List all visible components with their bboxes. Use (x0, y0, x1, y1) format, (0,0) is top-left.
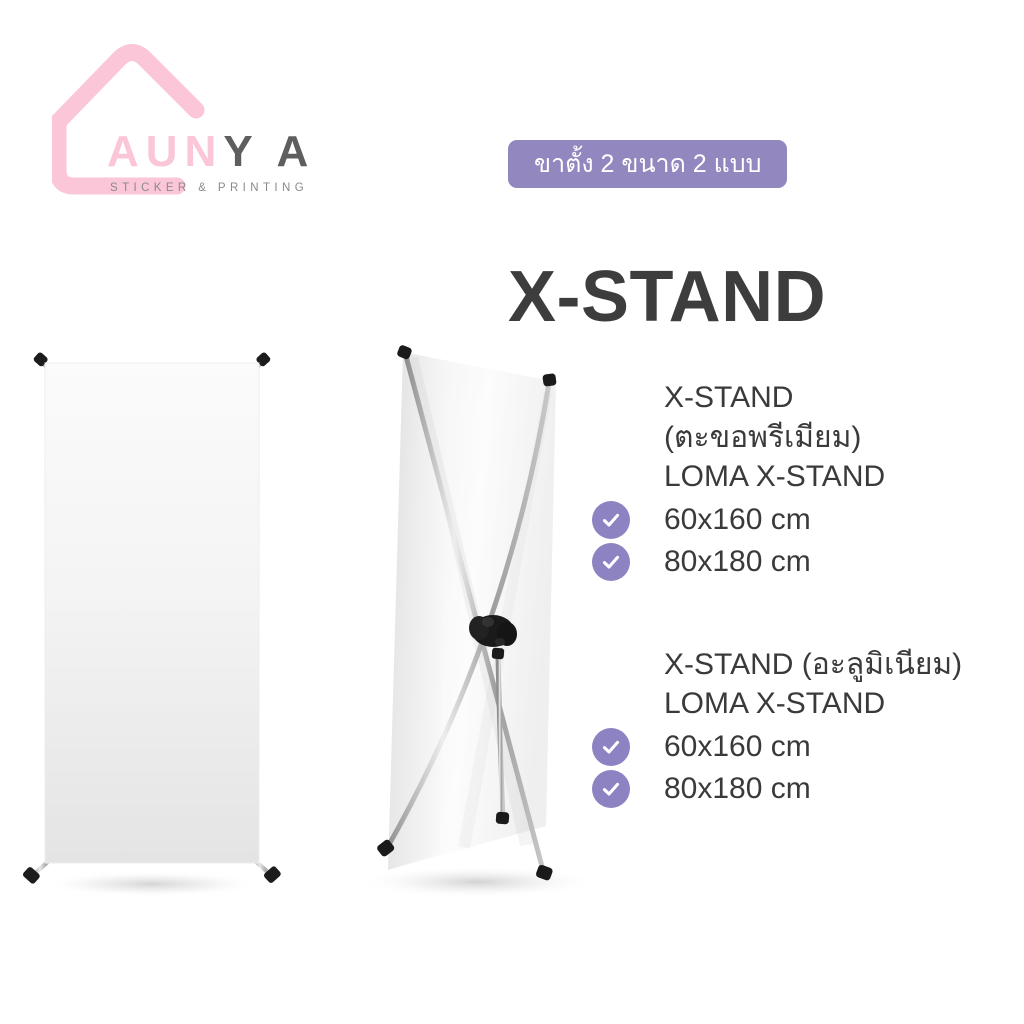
spec-size-label: 80x180 cm (664, 544, 811, 580)
wordmark-gray-letters: Y A (223, 127, 315, 176)
rod-tip-top-right (542, 373, 557, 387)
spec-size-item: 60x160 cm (592, 728, 1024, 766)
spec-size-item: 60x160 cm (592, 501, 1024, 539)
spec-size-label: 80x180 cm (664, 771, 811, 807)
spec-heading-line: LOMA X-STAND (664, 457, 1024, 497)
ground-shadow (42, 871, 262, 897)
page-title: X-STAND (508, 260, 826, 336)
spec-heading-line: (ตะขอพรีเมียม) (664, 418, 1024, 458)
specification-list: X-STAND (ตะขอพรีเมียม) LOMA X-STAND 60x1… (592, 378, 1024, 808)
spec-group-aluminium: X-STAND (อะลูมิเนียม) LOMA X-STAND 60x16… (592, 645, 1024, 808)
rod-tip-center-foot (496, 812, 510, 825)
brand-logo: AUNY A STICKER & PRINTING (52, 22, 342, 207)
rod-clip-center (492, 648, 505, 660)
x-stand-perspective-illustration (348, 326, 618, 936)
wordmark-pink-letters: AUN (107, 127, 223, 176)
x-stand-flat-illustration (0, 318, 320, 928)
ground-shadow (358, 866, 598, 898)
brand-wordmark: AUNY A (107, 130, 315, 174)
brand-tagline: STICKER & PRINTING (110, 182, 308, 194)
spec-group-premium-hook: X-STAND (ตะขอพรีเมียม) LOMA X-STAND 60x1… (592, 378, 1024, 581)
house-outline-icon (52, 22, 342, 207)
spec-size-label: 60x160 cm (664, 729, 811, 765)
spec-heading-line: X-STAND (664, 378, 1024, 418)
spec-size-item: 80x180 cm (592, 543, 1024, 581)
spec-heading-line: LOMA X-STAND (664, 684, 1024, 724)
product-advertisement-page: AUNY A STICKER & PRINTING ขาตั้ง 2 ขนาด … (0, 0, 1024, 1024)
spec-heading-line: X-STAND (อะลูมิเนียม) (664, 645, 1024, 685)
spec-size-item: 80x180 cm (592, 770, 1024, 808)
size-variants-badge: ขาตั้ง 2 ขนาด 2 แบบ (508, 140, 787, 188)
spec-size-label: 60x160 cm (664, 502, 811, 538)
banner-panel (45, 363, 259, 863)
